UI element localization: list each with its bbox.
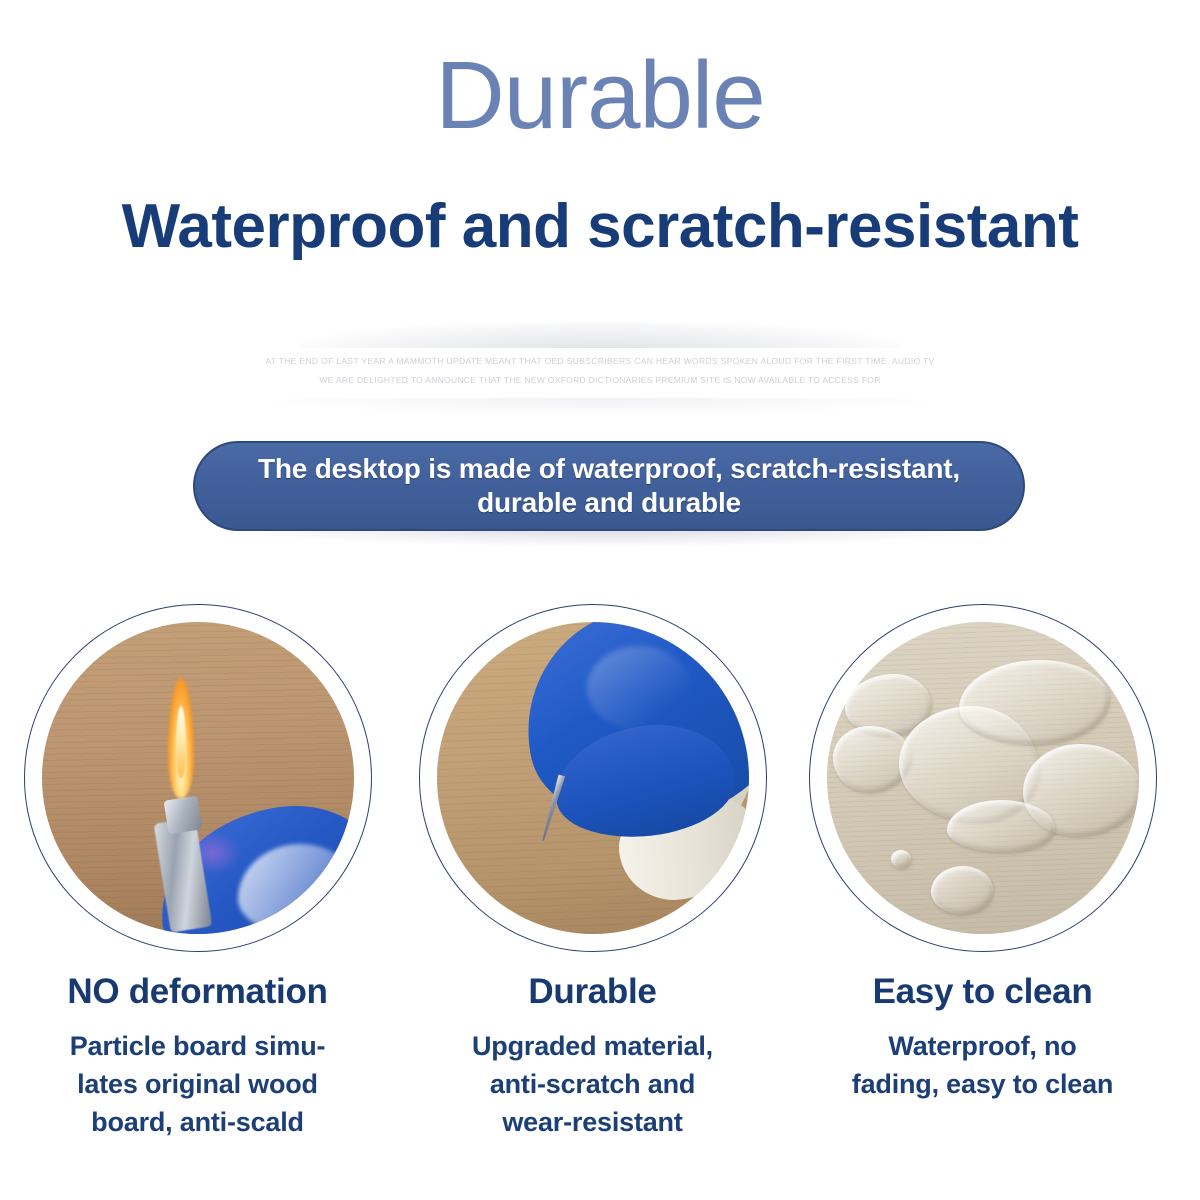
feature-image-ring-3 xyxy=(809,604,1157,952)
water-droplet xyxy=(891,850,911,868)
banner-line-1: The desktop is made of waterproof, scrat… xyxy=(258,452,960,486)
feature-body-line: Upgraded material, xyxy=(400,1027,785,1065)
wood-surface-texture xyxy=(827,622,1139,934)
feature-card-easy-to-clean: Easy to clean Waterproof, no fading, eas… xyxy=(790,604,1175,1103)
water-droplet xyxy=(959,660,1109,744)
nail-scratch-on-wood-photo xyxy=(437,622,749,934)
glove-highlight xyxy=(587,646,691,730)
decorative-gradient-band-lower xyxy=(260,398,940,416)
feature-body-line: board, anti-scald xyxy=(5,1103,390,1141)
lighter-head xyxy=(163,796,202,835)
fine-print-block: AT THE END OF LAST YEAR A MAMMOTH UPDATE… xyxy=(240,352,960,390)
page-subtitle: Waterproof and scratch-resistant xyxy=(0,196,1200,258)
feature-body-line: lates original wood xyxy=(5,1065,390,1103)
feature-body-3: Waterproof, no fading, easy to clean xyxy=(790,1027,1175,1103)
feature-title-1: NO deformation xyxy=(5,974,390,1011)
decorative-gradient-band xyxy=(300,322,900,348)
fine-print-line-1: AT THE END OF LAST YEAR A MAMMOTH UPDATE… xyxy=(240,352,960,371)
feature-image-ring-1 xyxy=(24,604,372,952)
feature-image-ring-2 xyxy=(419,604,767,952)
flame-on-wood-photo xyxy=(42,622,354,934)
feature-body-line: Particle board simu- xyxy=(5,1027,390,1065)
feature-body-2: Upgraded material, anti-scratch and wear… xyxy=(400,1027,785,1141)
banner-line-2: durable and durable xyxy=(258,486,960,520)
water-droplet xyxy=(947,800,1055,852)
feature-body-line: wear-resistant xyxy=(400,1103,785,1141)
water-droplets-on-wood-photo xyxy=(827,622,1139,934)
feature-body-line: Waterproof, no xyxy=(790,1027,1175,1065)
wood-surface-texture xyxy=(437,622,749,934)
fine-print-line-2: WE ARE DELIGHTED TO ANNOUNCE THAT THE NE… xyxy=(240,371,960,390)
banner-text: The desktop is made of waterproof, scrat… xyxy=(234,452,984,520)
feature-banner: The desktop is made of waterproof, scrat… xyxy=(193,441,1025,531)
feature-body-line: fading, easy to clean xyxy=(790,1065,1175,1103)
feature-title-3: Easy to clean xyxy=(790,974,1175,1011)
feature-card-durable: Durable Upgraded material, anti-scratch … xyxy=(400,604,785,1141)
water-droplet xyxy=(931,866,993,914)
page-title: Durable xyxy=(0,48,1200,144)
feature-body-line: anti-scratch and xyxy=(400,1065,785,1103)
flame-core xyxy=(176,706,186,778)
wood-surface-texture xyxy=(42,622,354,934)
feature-card-no-deformation: NO deformation Particle board simu- late… xyxy=(5,604,390,1141)
feature-body-1: Particle board simu- lates original wood… xyxy=(5,1027,390,1141)
feature-title-2: Durable xyxy=(400,974,785,1011)
